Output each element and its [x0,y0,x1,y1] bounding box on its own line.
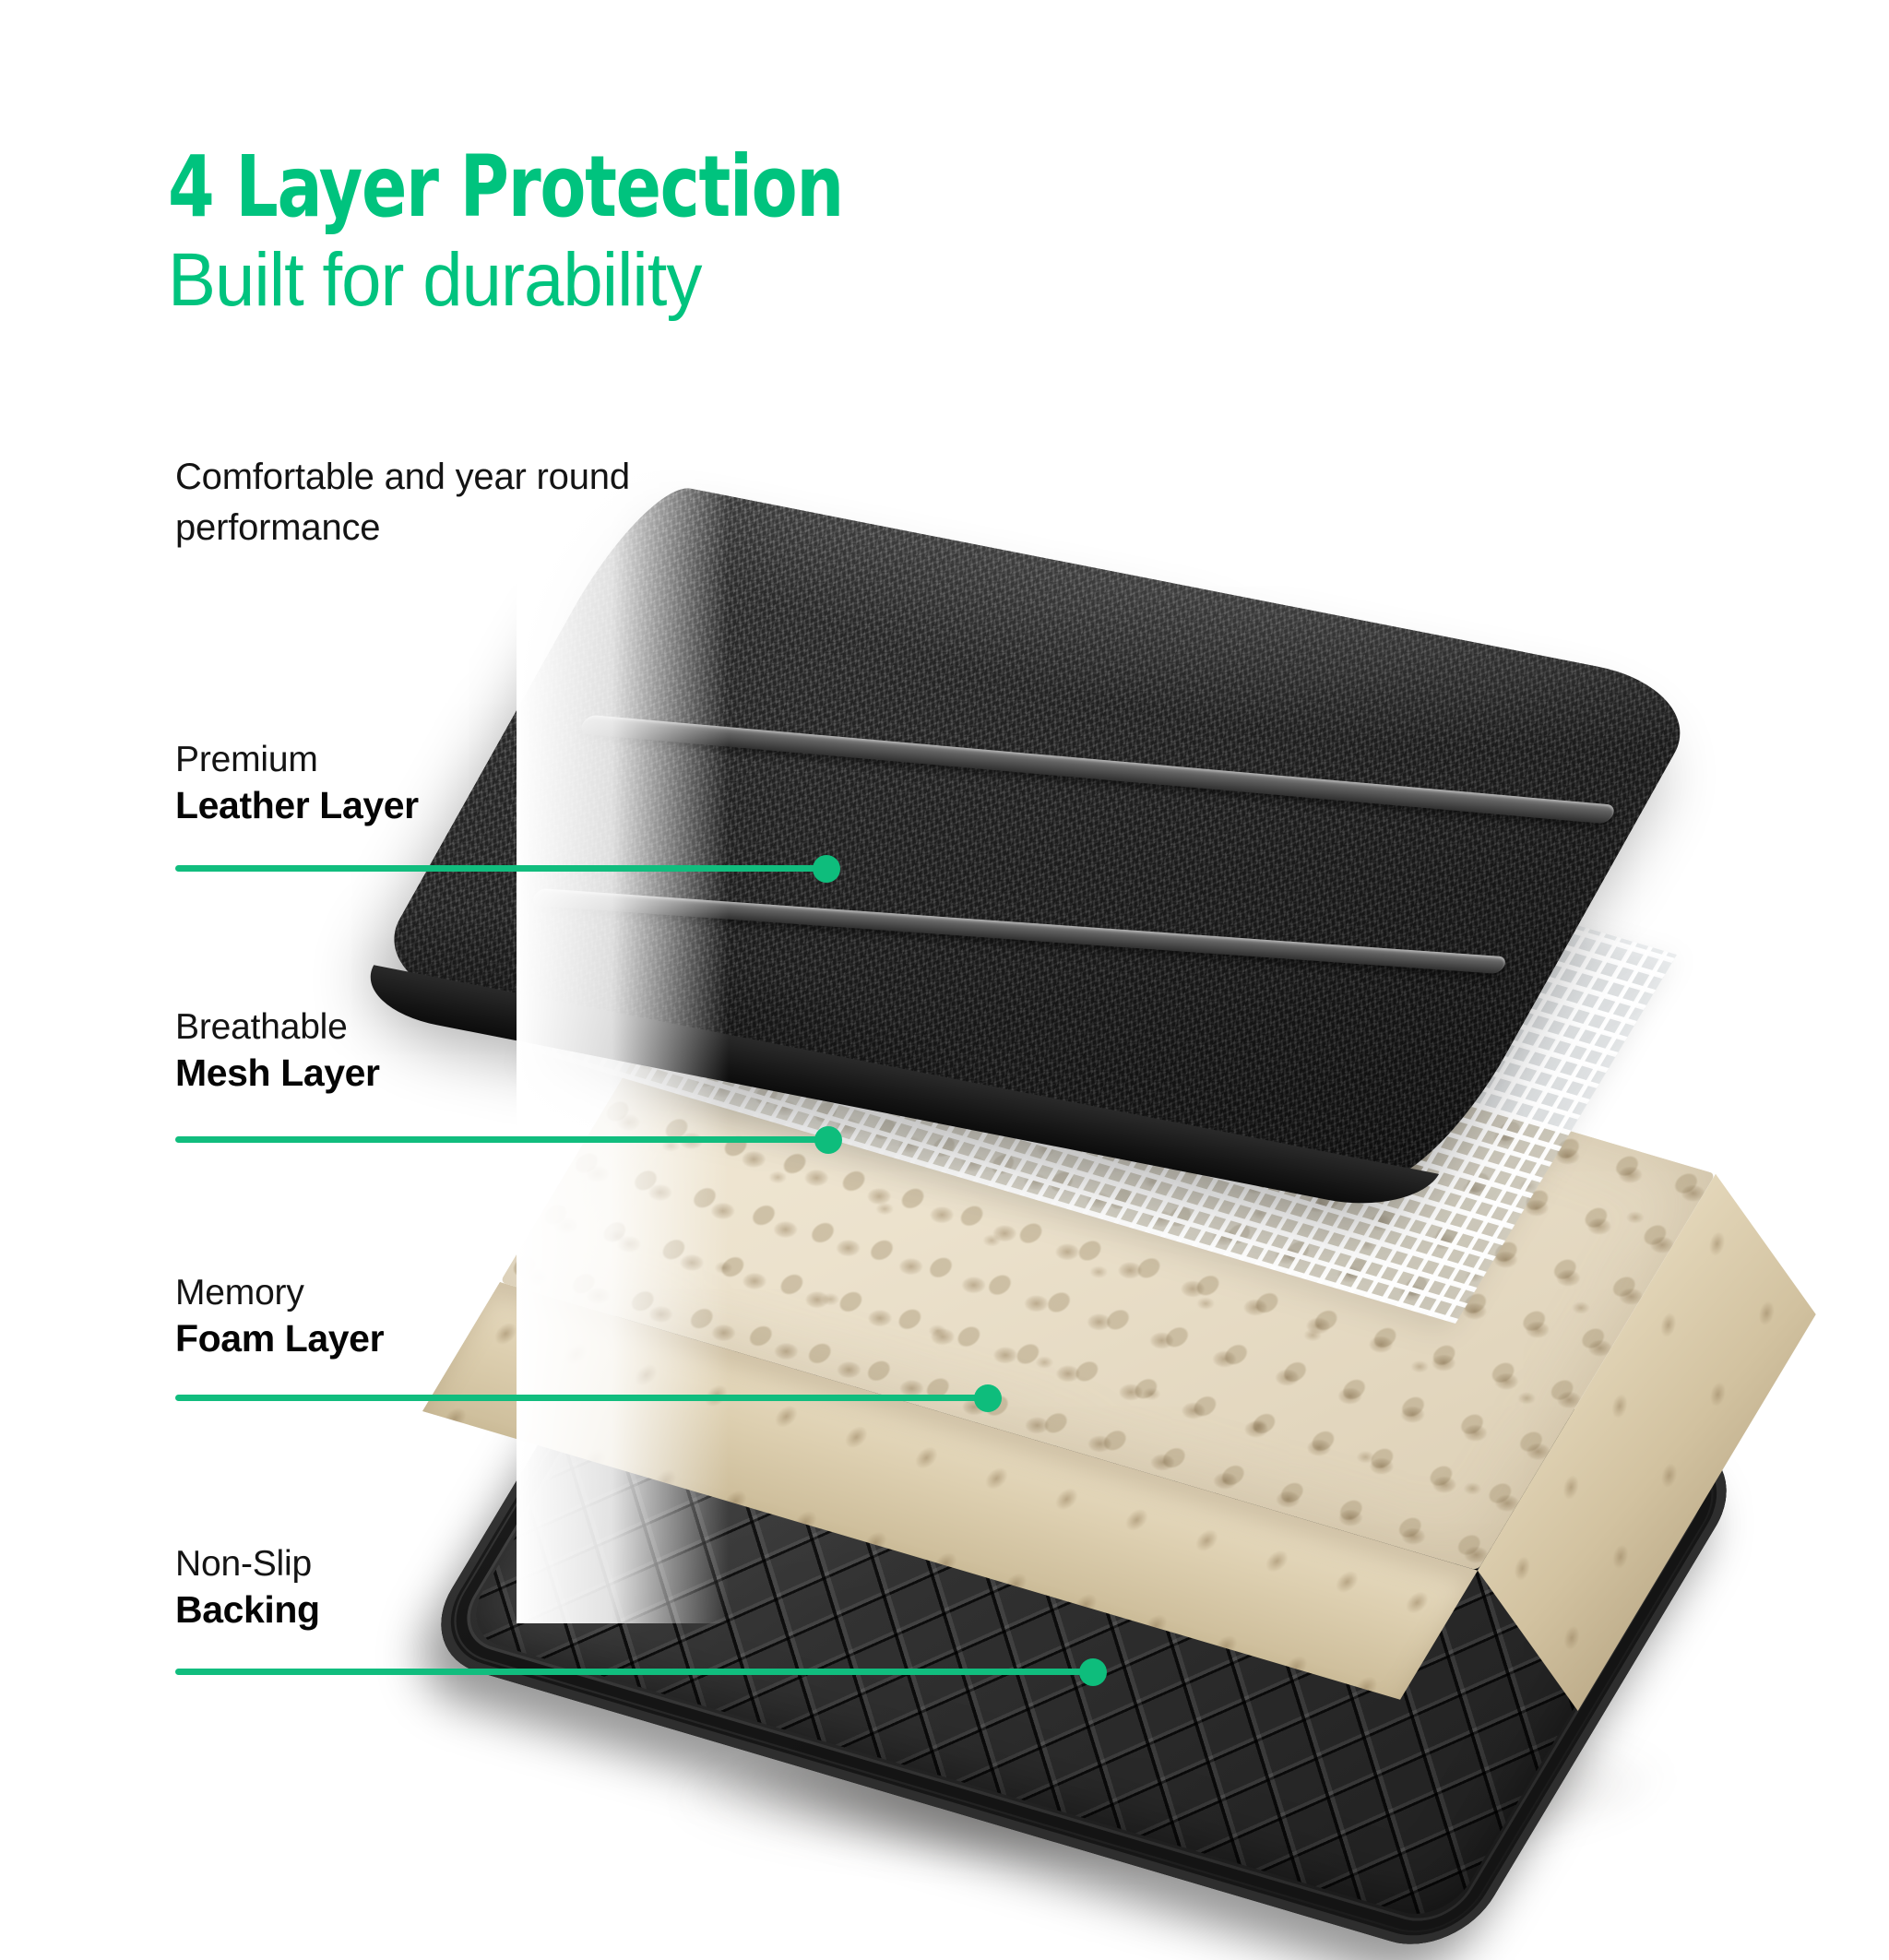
callout-leather: Premium Leather Layer [175,738,766,829]
leader-dot-foam [974,1384,1002,1412]
callout-foam-name: Foam Layer [175,1315,766,1362]
leader-line-leather [175,865,830,872]
callout-mesh-name: Mesh Layer [175,1050,766,1097]
leader-line-mesh [175,1136,832,1143]
callout-mesh-kicker: Breathable [175,1005,766,1050]
headline-secondary: Built for durability [168,238,897,323]
callout-mesh: Breathable Mesh Layer [175,1005,766,1097]
leader-line-foam [175,1395,992,1401]
callout-leather-name: Leather Layer [175,782,766,829]
intro-text: Comfortable and year round performance [175,452,655,553]
leader-dot-leather [813,855,840,883]
leader-line-backing [175,1669,1098,1675]
callout-foam: Memory Foam Layer [175,1271,766,1362]
page-title: 4 Layer Protection Built for durability [168,146,935,323]
callout-backing: Non-Slip Backing [175,1542,766,1633]
leader-dot-mesh [814,1126,842,1154]
product-layer-leather [646,480,1679,978]
callout-foam-kicker: Memory [175,1271,766,1315]
callout-backing-name: Backing [175,1586,766,1633]
leader-dot-backing [1079,1658,1107,1686]
callout-backing-kicker: Non-Slip [175,1542,766,1586]
headline-primary: 4 Layer Protection [168,146,843,229]
callout-leather-kicker: Premium [175,738,766,782]
